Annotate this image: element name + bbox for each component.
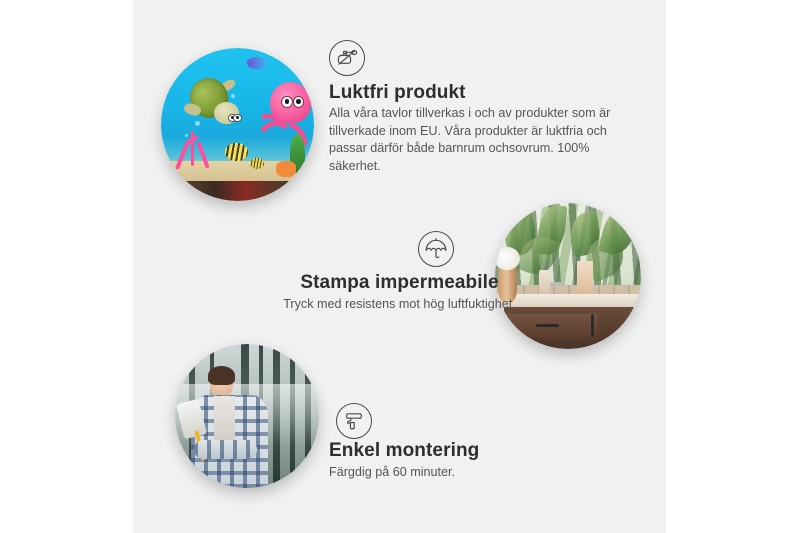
product-feature-infographic: Luktfri produkt Alla våra tavlor tillver… [0, 0, 800, 533]
feature-body-waterproof: Tryck med resistens mot hög luftfuktighe… [133, 296, 666, 314]
feature-title-easy-mounting: Enkel montering [329, 440, 479, 462]
sea-turtle [182, 76, 243, 131]
paint-roller-icon [336, 403, 372, 439]
starfish [276, 161, 296, 176]
white-flowers [495, 247, 520, 270]
fish-yellow [225, 143, 248, 161]
feature-body-easy-mounting: Färgdig på 60 minuter. [329, 464, 620, 482]
feature-image-easy-mounting [175, 344, 319, 488]
infographic-panel: Luktfri produkt Alla våra tavlor tillver… [133, 0, 666, 533]
feature-image-odourless [161, 48, 314, 201]
feature-title-odourless: Luktfri produkt [329, 82, 466, 104]
feature-body-odourless: Alla våra tavlor tillverkas i och av pro… [329, 105, 620, 175]
woman-with-paint-roller [184, 367, 273, 488]
underwater-scene-artwork [161, 48, 314, 201]
forest-mural-artwork [175, 344, 319, 488]
feature-title-waterproof: Stampa impermeabile [133, 272, 666, 294]
fish-blue [247, 57, 267, 69]
umbrella-icon [418, 231, 454, 267]
fish-small [250, 158, 264, 169]
coral [176, 131, 216, 177]
no-fragrance-icon [329, 40, 365, 76]
